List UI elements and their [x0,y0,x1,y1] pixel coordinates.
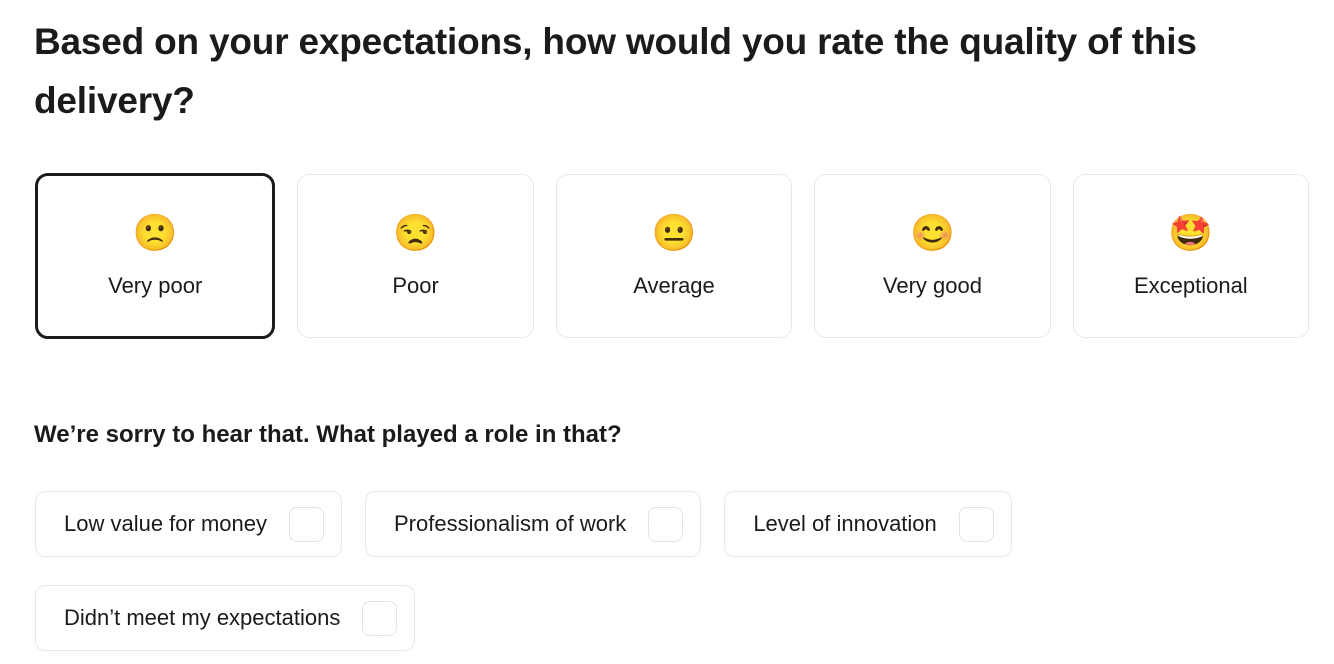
rating-option-label: Poor [392,273,438,299]
reason-option-label: Didn’t meet my expectations [64,605,362,631]
rating-option-label: Very poor [108,273,202,299]
reason-option-professionalism-of-work[interactable]: Professionalism of work [365,491,701,557]
rating-option-label: Average [633,273,715,299]
followup-question-title: We’re sorry to hear that. What played a … [34,419,622,451]
reason-option-didnt-meet-my-expectations[interactable]: Didn’t meet my expectations [35,585,415,651]
reason-option-label: Level of innovation [753,511,958,537]
rating-option-label: Exceptional [1134,273,1248,299]
reason-row: Didn’t meet my expectations [35,585,1309,651]
rating-option-very-poor[interactable]: 🙁 Very poor [35,173,275,339]
rating-option-average[interactable]: 😐 Average [556,174,792,338]
unamused-face-emoji: 😒 [393,213,438,253]
reason-options-group: Low value for money Professionalism of w… [35,491,1309,651]
smiling-face-with-smiling-eyes-emoji: 😊 [910,213,955,253]
page-title: Based on your expectations, how would yo… [34,12,1214,130]
reason-option-low-value-for-money[interactable]: Low value for money [35,491,342,557]
checkbox-icon[interactable] [362,601,397,636]
rating-option-label: Very good [883,273,982,299]
survey-page: Based on your expectations, how would yo… [0,0,1334,664]
reason-option-level-of-innovation[interactable]: Level of innovation [724,491,1011,557]
rating-option-exceptional[interactable]: 🤩 Exceptional [1073,174,1309,338]
reason-option-label: Professionalism of work [394,511,648,537]
checkbox-icon[interactable] [648,507,683,542]
rating-options-group: 🙁 Very poor 😒 Poor 😐 Average 😊 Very good… [35,174,1309,339]
frowning-face-emoji: 🙁 [133,213,178,253]
rating-option-poor[interactable]: 😒 Poor [297,174,533,338]
rating-option-very-good[interactable]: 😊 Very good [814,174,1050,338]
reason-row: Low value for money Professionalism of w… [35,491,1309,557]
checkbox-icon[interactable] [959,507,994,542]
reason-option-label: Low value for money [64,511,289,537]
checkbox-icon[interactable] [289,507,324,542]
star-struck-emoji: 🤩 [1168,213,1213,253]
neutral-face-emoji: 😐 [652,213,697,253]
